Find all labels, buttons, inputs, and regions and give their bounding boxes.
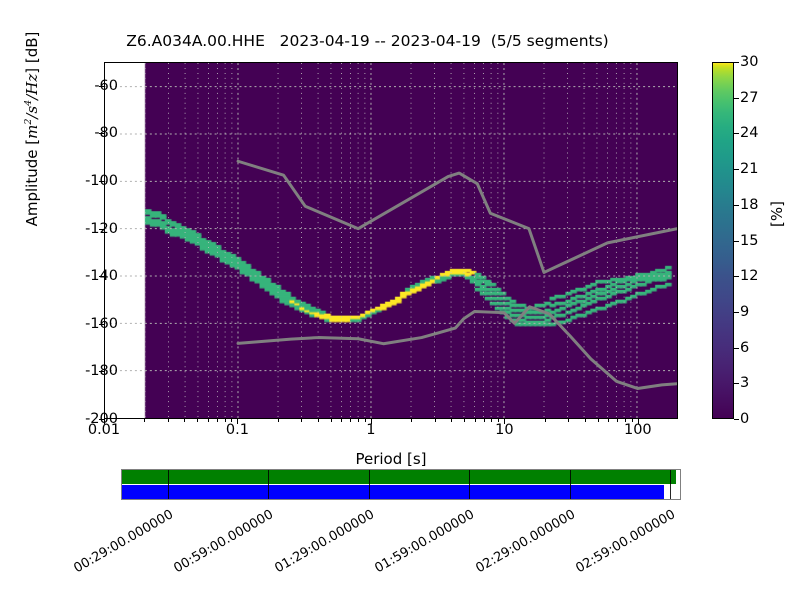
coverage-timeline[interactable] <box>121 469 681 500</box>
x-tick-mark <box>104 419 105 424</box>
y-axis-unit-slash-1: / <box>23 114 41 119</box>
x-minor-tick <box>585 419 586 422</box>
colorbar-tick-mark <box>734 241 739 242</box>
x-minor-tick <box>350 419 351 422</box>
y-axis-unit-s: s <box>23 106 41 114</box>
colorbar-tick-mark <box>734 312 739 313</box>
x-minor-tick <box>208 419 209 422</box>
colorbar-tick-label: 24 <box>740 126 780 141</box>
colorbar-tick-label: 0 <box>740 412 780 427</box>
x-tick-label: 10 <box>469 423 539 438</box>
timeline-tick-mark <box>168 470 169 499</box>
x-tick-label: 1 <box>336 423 406 438</box>
y-axis-unit-m-exp: 2 <box>23 119 34 125</box>
x-minor-tick <box>318 419 319 422</box>
x-tick-mark <box>371 419 372 424</box>
y-axis-unit-hz: Hz <box>23 74 41 95</box>
x-minor-tick <box>278 419 279 422</box>
colorbar-tick-mark <box>734 62 739 63</box>
x-minor-tick <box>598 419 599 422</box>
x-tick-mark <box>237 419 238 424</box>
x-minor-tick <box>632 419 633 422</box>
y-axis-label: Amplitude [m2/s4/Hz] [dB] <box>23 0 41 259</box>
timeline-tick-label: 02:29:00.000000 <box>467 508 577 579</box>
x-minor-tick <box>545 419 546 422</box>
x-minor-tick <box>491 419 492 422</box>
x-minor-tick <box>358 419 359 422</box>
x-tick-label: 0.01 <box>69 423 139 438</box>
x-minor-tick <box>451 419 452 422</box>
x-minor-tick <box>464 419 465 422</box>
x-minor-tick <box>197 419 198 422</box>
colorbar-tick-label: 6 <box>740 341 780 356</box>
x-minor-tick <box>331 419 332 422</box>
colorbar-tick-mark <box>734 419 739 420</box>
timeline-tick-mark <box>469 470 470 499</box>
colorbar-tick-label: 9 <box>740 305 780 320</box>
x-minor-tick <box>498 419 499 422</box>
x-minor-tick <box>144 419 145 422</box>
colorbar-tick-label: 30 <box>740 55 780 70</box>
x-tick-mark <box>638 419 639 424</box>
x-minor-tick <box>484 419 485 422</box>
timeline-tick-label: 01:59:00.000000 <box>366 508 476 579</box>
x-minor-tick <box>184 419 185 422</box>
timeline-tick-mark <box>670 470 671 499</box>
y-tick-mark <box>99 276 104 277</box>
y-tick-mark <box>99 229 104 230</box>
timeline-tick-mark <box>570 470 571 499</box>
x-minor-tick <box>411 419 412 422</box>
colorbar-tick-mark <box>734 383 739 384</box>
x-minor-tick <box>301 419 302 422</box>
timeline-green-bar <box>122 470 676 484</box>
noise-model-lines <box>105 63 677 418</box>
y-tick-mark <box>99 133 104 134</box>
timeline-tick-label: 01:29:00.000000 <box>266 508 376 579</box>
y-axis-unit-s-exp: 4 <box>23 100 34 106</box>
y-axis-unit-m: m <box>23 125 41 139</box>
x-axis-label: Period [s] <box>104 450 678 468</box>
colorbar-tick-mark <box>734 133 739 134</box>
page-title: Z6.A034A.00.HHE 2023-04-19 -- 2023-04-19… <box>0 32 735 50</box>
y-tick-label: -140 <box>58 269 118 284</box>
y-tick-mark <box>99 371 104 372</box>
x-minor-tick <box>341 419 342 422</box>
y-tick-label: -100 <box>58 174 118 189</box>
x-minor-tick <box>435 419 436 422</box>
x-minor-tick <box>608 419 609 422</box>
x-tick-mark <box>504 419 505 424</box>
colorbar-tick-mark <box>734 205 739 206</box>
y-tick-mark <box>99 324 104 325</box>
y-tick-label: -180 <box>58 364 118 379</box>
colorbar-tick-label: 3 <box>740 376 780 391</box>
y-tick-label: -120 <box>58 222 118 237</box>
x-minor-tick <box>168 419 169 422</box>
y-tick-label: -80 <box>58 126 118 141</box>
colorbar-tick-mark <box>734 348 739 349</box>
y-tick-label: -60 <box>58 79 118 94</box>
x-minor-tick <box>617 419 618 422</box>
ppsd-figure: Z6.A034A.00.HHE 2023-04-19 -- 2023-04-19… <box>0 0 800 600</box>
y-axis-label-suffix: ] [dB] <box>23 32 41 74</box>
x-minor-tick <box>365 419 366 422</box>
timeline-blue-bar <box>122 485 664 499</box>
timeline-tick-label: 00:29:00.000000 <box>65 508 175 579</box>
colorbar-tick-mark <box>734 276 739 277</box>
timeline-tick-mark <box>369 470 370 499</box>
colorbar-tick-mark <box>734 98 739 99</box>
y-tick-label: -160 <box>58 317 118 332</box>
y-axis-unit-slash-2: / <box>23 95 41 100</box>
x-tick-label: 0.1 <box>202 423 272 438</box>
x-minor-tick <box>217 419 218 422</box>
y-tick-mark <box>99 86 104 87</box>
timeline-tick-label: 00:59:00.000000 <box>165 508 275 579</box>
colorbar-tick-mark <box>734 169 739 170</box>
timeline-tick-label: 02:59:00.000000 <box>567 508 677 579</box>
x-minor-tick <box>225 419 226 422</box>
colorbar-tick-label: 27 <box>740 91 780 106</box>
colorbar-label: [%] <box>768 149 786 279</box>
colorbar[interactable] <box>712 62 734 419</box>
x-tick-label: 100 <box>603 423 673 438</box>
y-tick-mark <box>99 181 104 182</box>
x-minor-tick <box>475 419 476 422</box>
x-minor-tick <box>568 419 569 422</box>
x-minor-tick <box>231 419 232 422</box>
x-minor-tick <box>625 419 626 422</box>
timeline-tick-mark <box>268 470 269 499</box>
ppsd-plot-axes[interactable] <box>104 62 678 419</box>
y-axis-label-prefix: Amplitude [ <box>23 139 41 227</box>
